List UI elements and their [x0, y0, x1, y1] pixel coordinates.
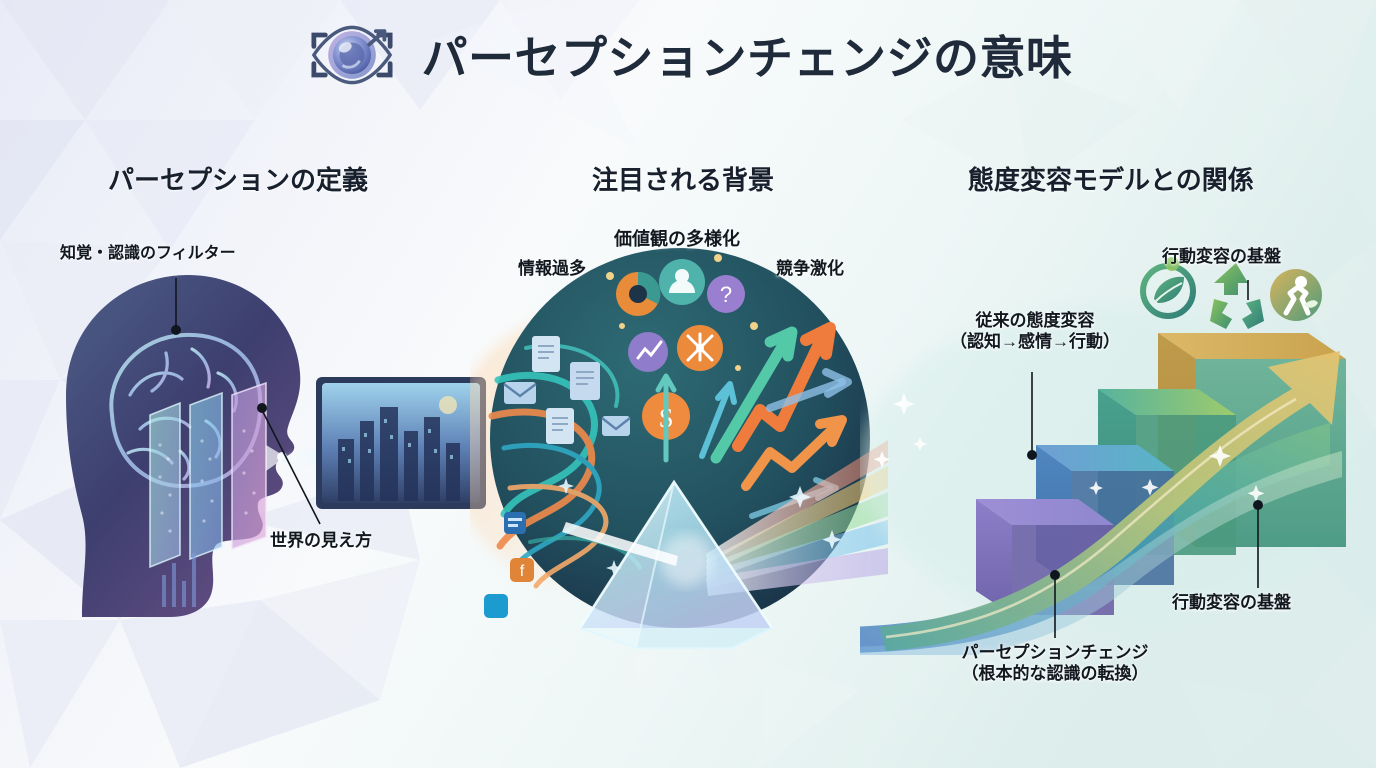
eye-scan-icon — [304, 14, 400, 96]
label-classic-attitude: 従来の態度変容 （認知→感情→行動） — [940, 310, 1130, 353]
label-behavior-base-top: 行動変容の基盤 — [1162, 246, 1281, 267]
section-heading-attitude-model: 態度変容モデルとの関係 — [968, 160, 1254, 197]
label-information-overload: 情報過多 — [518, 258, 586, 279]
label-classic-attitude-line1: 従来の態度変容 — [940, 310, 1130, 331]
human-head-brain-filter-layers-icon — [20, 245, 490, 665]
svg-text:f: f — [520, 563, 525, 580]
label-competition: 競争激化 — [776, 258, 844, 279]
svg-text:?: ? — [720, 282, 732, 307]
label-behavior-base-bottom: 行動変容の基盤 — [1172, 592, 1291, 613]
label-perception-change-line1: パーセプションチェンジ — [922, 642, 1188, 663]
page-title: パーセプションチェンジの意味 — [422, 22, 1073, 88]
section-heading-definition: パーセプションの定義 — [108, 160, 368, 197]
label-perception-change: パーセプションチェンジ （根本的な認識の転換） — [922, 642, 1188, 685]
page-header: パーセプションチェンジの意味 — [0, 14, 1376, 96]
label-value-diversity: 価値観の多様化 — [614, 228, 740, 251]
label-perception-filter: 知覚・認識のフィルター — [60, 244, 236, 264]
prism-information-spectrum-icon: f ? $ — [470, 230, 890, 650]
infographic-canvas: パーセプションチェンジの意味 パーセプションの定義 注目される背景 態度変容モデ… — [0, 0, 1376, 768]
label-worldview: 世界の見え方 — [270, 530, 372, 551]
section-heading-background: 注目される背景 — [592, 160, 774, 197]
label-classic-attitude-line2: （認知→感情→行動） — [940, 331, 1130, 352]
label-perception-change-line2: （根本的な認識の転換） — [922, 663, 1188, 684]
